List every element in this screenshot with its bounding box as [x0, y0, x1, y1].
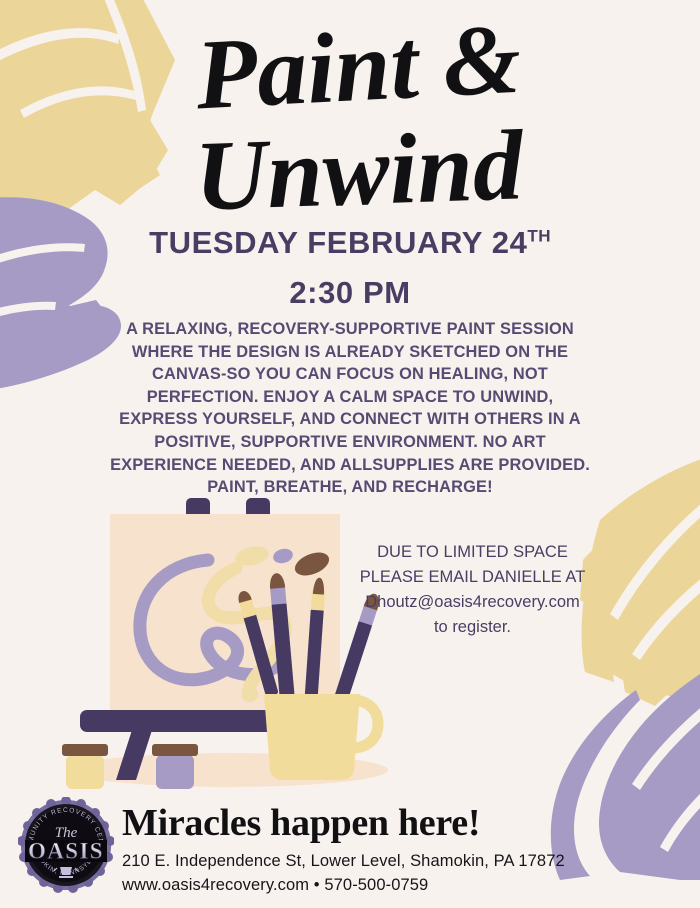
event-time: 2:30 PM	[0, 277, 700, 308]
flyer-title: Paint & Unwind	[0, 14, 700, 219]
title-line2: Unwind	[193, 109, 527, 219]
stroke-bottom-left-accent	[0, 738, 30, 772]
contact-line-2: PLEASE EMAIL DANIELLE AT	[335, 565, 610, 590]
stroke-right-bottom-purple	[551, 640, 700, 880]
registration-info: DUE TO LIMITED SPACE PLEASE EMAIL DANIEL…	[335, 540, 610, 640]
title-script-text: Paint & Unwind	[70, 14, 630, 219]
footer-address: 210 E. Independence St, Lower Level, Sha…	[122, 852, 565, 871]
paint-jar-purple	[152, 744, 198, 789]
contact-line-1: DUE TO LIMITED SPACE	[335, 540, 610, 565]
paint-jar-yellow	[62, 744, 108, 789]
logo-name: OASIS	[28, 839, 104, 864]
contact-line-4: to register.	[335, 615, 610, 640]
event-date-ordinal: TH	[527, 227, 551, 246]
footer-web-phone[interactable]: www.oasis4recovery.com • 570-500-0759	[122, 876, 428, 895]
event-date: TUESDAY FEBRUARY 24TH	[0, 227, 700, 258]
footer-tagline: Miracles happen here!	[122, 804, 480, 842]
event-date-text: TUESDAY FEBRUARY 24	[149, 225, 527, 260]
oasis-logo: COMMUNITY RECOVERY CENTER SHAMOKIN, PENN…	[18, 797, 114, 893]
flyer-canvas: Paint & Unwind TUESDAY FEBRUARY 24TH 2:3…	[0, 0, 700, 908]
contact-email[interactable]: Dhoutz@oasis4recovery.com	[335, 590, 610, 615]
event-description: A RELAXING, RECOVERY-SUPPORTIVE PAINT SE…	[110, 318, 590, 499]
